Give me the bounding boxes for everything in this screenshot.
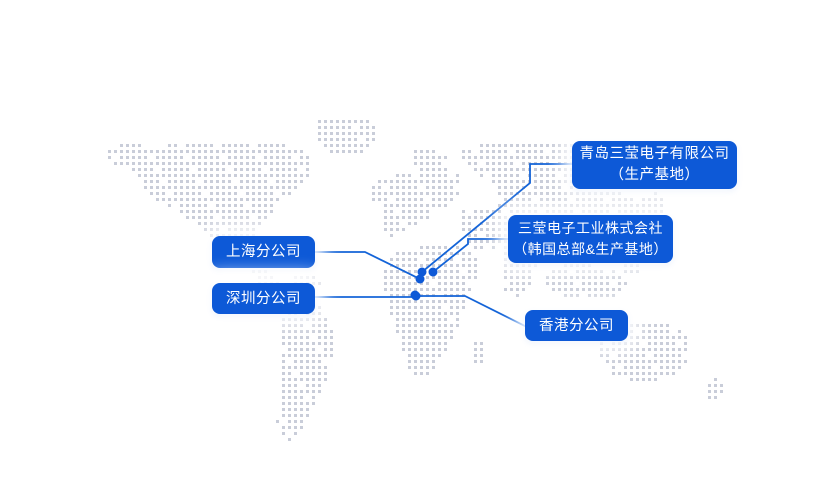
label-shanghai[interactable]: 上海分公司 <box>212 236 315 268</box>
map-marker-korea[interactable] <box>429 268 438 277</box>
map-marker-shanghai[interactable] <box>416 275 425 284</box>
world-map-dots <box>0 0 824 480</box>
label-shenzhen-line1: 深圳分公司 <box>226 289 301 309</box>
label-qingdao-line2: （生产基地） <box>610 165 700 186</box>
label-shanghai-line1: 上海分公司 <box>226 242 301 262</box>
world-map-background <box>0 0 824 480</box>
label-shenzhen[interactable]: 深圳分公司 <box>212 283 315 314</box>
label-hongkong[interactable]: 香港分公司 <box>525 310 628 341</box>
label-korea-line2: （韩国总部&生产基地） <box>513 239 668 260</box>
label-qingdao-line1: 青岛三莹电子有限公司 <box>580 144 730 165</box>
label-qingdao[interactable]: 青岛三莹电子有限公司 （生产基地） <box>572 141 737 189</box>
label-korea-line1: 三莹电子工业株式会社 <box>518 218 663 239</box>
label-hongkong-line1: 香港分公司 <box>539 316 614 336</box>
map-marker-hongkong[interactable] <box>412 292 421 301</box>
location-map-diagram: 青岛三莹电子有限公司 （生产基地） 三莹电子工业株式会社 （韩国总部&生产基地）… <box>0 0 824 480</box>
label-korea[interactable]: 三莹电子工业株式会社 （韩国总部&生产基地） <box>508 215 673 263</box>
